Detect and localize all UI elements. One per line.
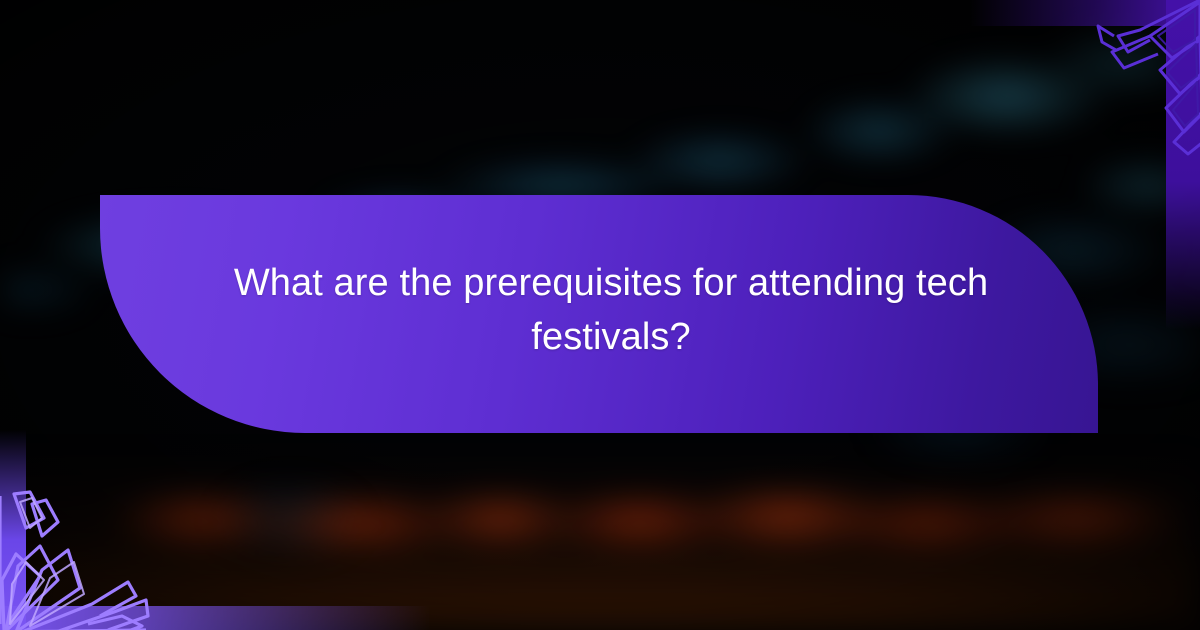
frame-edge-bottom	[0, 606, 430, 630]
question-banner: What are the prerequisites for attending…	[100, 195, 1098, 433]
frame-edge-left	[0, 430, 26, 630]
question-title: What are the prerequisites for attending…	[192, 257, 1006, 371]
frame-edge-right	[1166, 0, 1200, 330]
question-card-canvas: What are the prerequisites for attending…	[0, 0, 1200, 630]
